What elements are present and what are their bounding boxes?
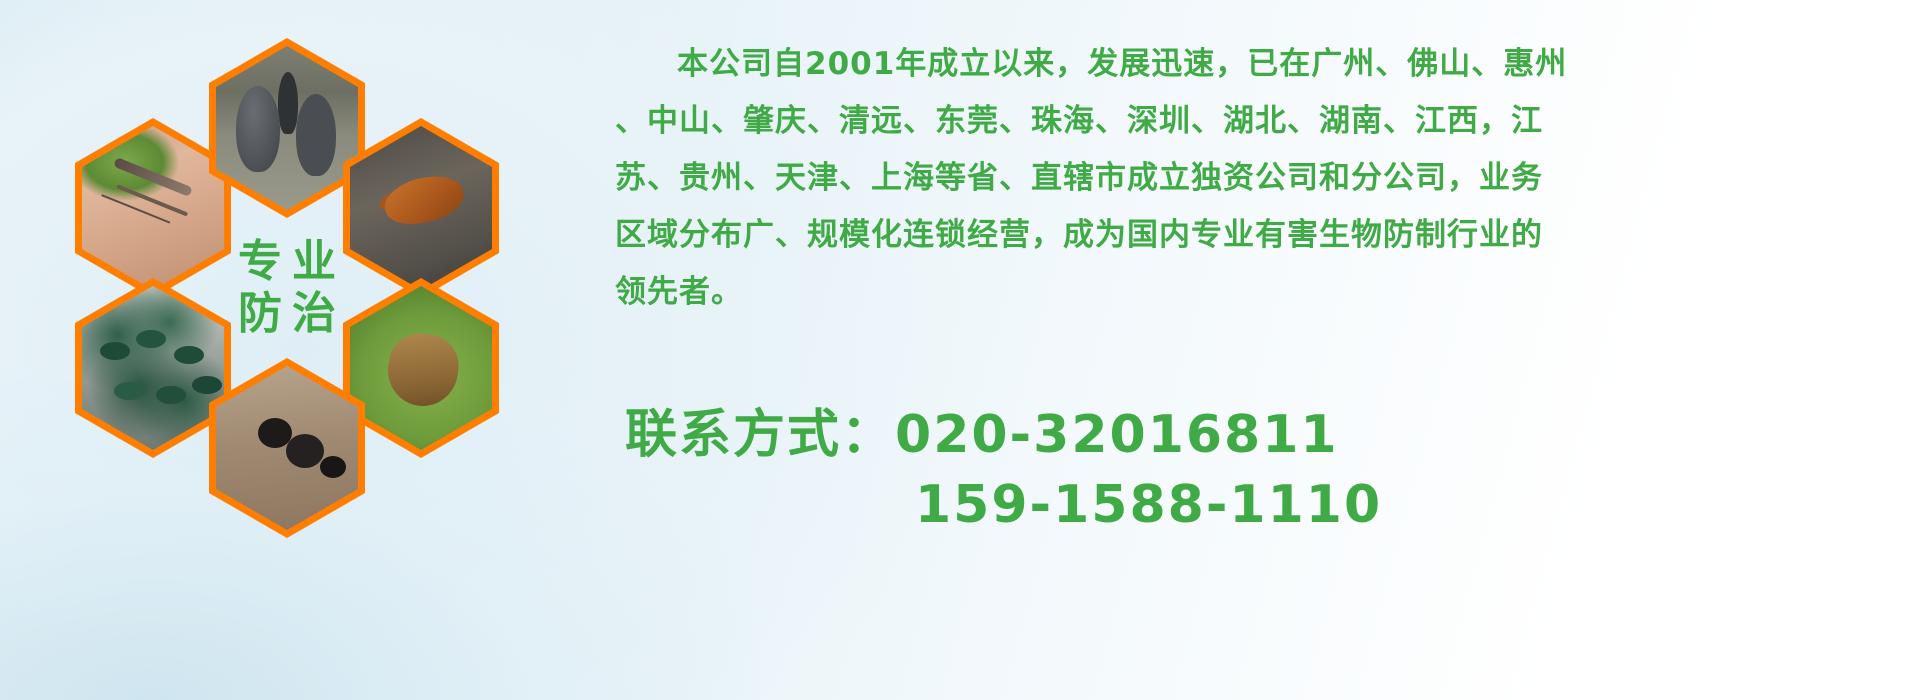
contact-primary-line: 联系方式：020-32016811 [625,400,1875,470]
intro-line-2: 、中山、肇庆、清远、东莞、珠海、深圳、湖北、湖南、江西，江 [615,93,1860,150]
intro-line-1: 本公司自2001年成立以来，发展迅速，已在广州、佛山、惠州 [615,36,1860,93]
phone-primary[interactable]: 020-32016811 [895,405,1339,465]
hex-cell-flies [75,278,231,458]
rats-photo [216,46,358,210]
slogan-line-2: 防治 [228,288,346,340]
stink-bug-photo [350,286,492,450]
contact-secondary-line: 159-1588-1110 [625,470,1875,540]
hex-cell-slogan: 专业 防治 [209,198,365,378]
mosquito-photo [82,126,224,290]
ant-icon [216,366,358,530]
hex-cell-cockroach [343,118,499,298]
hex-cell-mosquito [75,118,231,298]
hex-cell-rats [209,38,365,218]
intro-line-5: 领先者。 [615,264,1860,321]
contact-block: 联系方式：020-32016811 159-1588-1110 [625,400,1875,540]
mosquito-icon [82,126,224,290]
intro-line-4: 区域分布广、规模化连锁经营，成为国内专业有害生物防制行业的 [615,207,1860,264]
hex-cell-stink-bug [343,278,499,458]
cockroach-icon [350,126,492,290]
hex-cell-ant [209,358,365,538]
cockroach-photo [350,126,492,290]
contact-label: 联系方式： [625,405,895,465]
slogan-line-1: 专业 [228,236,346,288]
flies-photo [82,286,224,450]
stink-bug-icon [350,286,492,450]
honeycomb-collage: 专业 防治 [75,10,595,570]
phone-secondary[interactable]: 159-1588-1110 [915,475,1382,535]
fly-icon [82,286,224,450]
company-intro: 本公司自2001年成立以来，发展迅速，已在广州、佛山、惠州 、中山、肇庆、清远、… [615,36,1860,321]
slogan-block: 专业 防治 [209,198,365,378]
intro-line-3: 苏、贵州、天津、上海等省、直辖市成立独资公司和分公司，业务 [615,150,1860,207]
promo-banner: 专业 防治 本公司自2001年成立以来，发展迅速，已在广州、佛山、惠州 、中山、… [0,0,1920,700]
rat-icon [216,46,358,210]
ant-photo [216,366,358,530]
